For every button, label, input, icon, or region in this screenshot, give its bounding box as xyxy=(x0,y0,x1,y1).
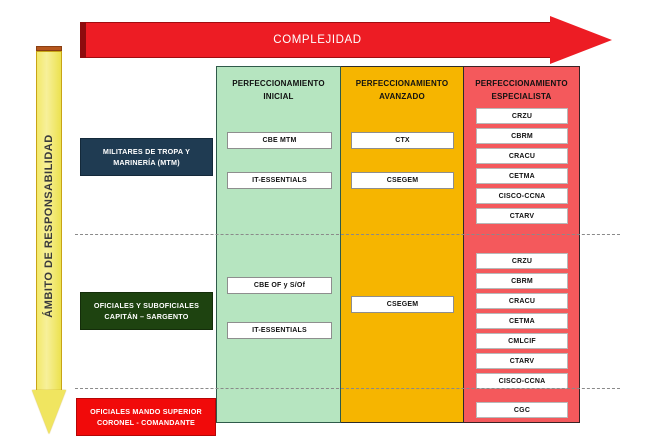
column-title-avanzado-line1: PERFECCIONAMIENTO xyxy=(341,77,463,90)
course-chip[interactable]: CBE MTM xyxy=(227,132,332,149)
category-label-tropa-line1: MILITARES DE TROPA Y xyxy=(103,147,190,156)
category-label-oficiales-line1: OFICIALES Y SUBOFICIALES xyxy=(94,301,199,310)
course-chip[interactable]: CETMA xyxy=(476,313,568,329)
course-chip[interactable]: CBE OF y S/Of xyxy=(227,277,332,294)
column-title-inicial-line2: INICIAL xyxy=(217,90,340,103)
column-title-especialista-line2: ESPECIALISTA xyxy=(464,90,579,103)
course-chip[interactable]: CRZU xyxy=(476,253,568,269)
course-chip[interactable]: CRZU xyxy=(476,108,568,124)
course-chip[interactable]: CTARV xyxy=(476,353,568,369)
diagram-canvas: COMPLEJIDAD ÁMBITO DE RESPONSABILIDAD MI… xyxy=(0,0,650,440)
course-chip[interactable]: CBRM xyxy=(476,273,568,289)
course-chip[interactable]: CTARV xyxy=(476,208,568,224)
course-chip[interactable]: CGC xyxy=(476,402,568,418)
course-chip[interactable]: CETMA xyxy=(476,168,568,184)
responsibility-arrow: ÁMBITO DE RESPONSABILIDAD xyxy=(36,46,62,436)
course-chip[interactable]: IT-ESSENTIALS xyxy=(227,172,332,189)
course-chip[interactable]: CSEGEM xyxy=(351,172,454,189)
category-label-mando-line1: OFICIALES MANDO SUPERIOR xyxy=(90,407,202,416)
course-chip[interactable]: CSEGEM xyxy=(351,296,454,313)
category-label-oficiales-line2: CAPITÁN – SARGENTO xyxy=(84,311,209,322)
course-chip[interactable]: CISCO-CCNA xyxy=(476,188,568,204)
complexity-arrow: COMPLEJIDAD xyxy=(80,16,625,64)
column-title-especialista-line1: PERFECCIONAMIENTO xyxy=(464,77,579,90)
category-label-tropa: MILITARES DE TROPA Y MARINERÍA (MTM) xyxy=(80,138,213,176)
column-title-avanzado: PERFECCIONAMIENTO AVANZADO xyxy=(341,77,463,103)
column-title-inicial: PERFECCIONAMIENTO INICIAL xyxy=(217,77,340,103)
complexity-arrow-head-icon xyxy=(550,16,612,64)
course-chip[interactable]: CBRM xyxy=(476,128,568,144)
category-label-mando-line2: CORONEL - COMANDANTE xyxy=(80,417,212,428)
column-perfeccionamiento-especialista: PERFECCIONAMIENTO ESPECIALISTA CRZU CBRM… xyxy=(464,66,580,423)
course-chip[interactable]: CMLCIF xyxy=(476,333,568,349)
column-perfeccionamiento-avanzado: PERFECCIONAMIENTO AVANZADO CTX CSEGEM CS… xyxy=(341,66,464,423)
column-title-especialista: PERFECCIONAMIENTO ESPECIALISTA xyxy=(464,77,579,103)
complexity-arrow-label: COMPLEJIDAD xyxy=(80,22,555,58)
category-label-oficiales: OFICIALES Y SUBOFICIALES CAPITÁN – SARGE… xyxy=(80,292,213,330)
responsibility-arrow-label: ÁMBITO DE RESPONSABILIDAD xyxy=(36,61,62,391)
responsibility-arrow-head-icon xyxy=(32,390,66,434)
course-chip[interactable]: CISCO-CCNA xyxy=(476,373,568,389)
column-perfeccionamiento-inicial: PERFECCIONAMIENTO INICIAL CBE MTM IT-ESS… xyxy=(216,66,341,423)
category-label-tropa-line2: MARINERÍA (MTM) xyxy=(84,157,209,168)
course-chip[interactable]: CRACU xyxy=(476,293,568,309)
course-chip[interactable]: CRACU xyxy=(476,148,568,164)
column-title-avanzado-line2: AVANZADO xyxy=(341,90,463,103)
row-divider-tropa-oficiales xyxy=(75,234,620,235)
row-divider-oficiales-mando xyxy=(75,388,620,389)
course-chip[interactable]: IT-ESSENTIALS xyxy=(227,322,332,339)
column-title-inicial-line1: PERFECCIONAMIENTO xyxy=(217,77,340,90)
course-chip[interactable]: CTX xyxy=(351,132,454,149)
category-label-mando: OFICIALES MANDO SUPERIOR CORONEL - COMAN… xyxy=(76,398,216,436)
